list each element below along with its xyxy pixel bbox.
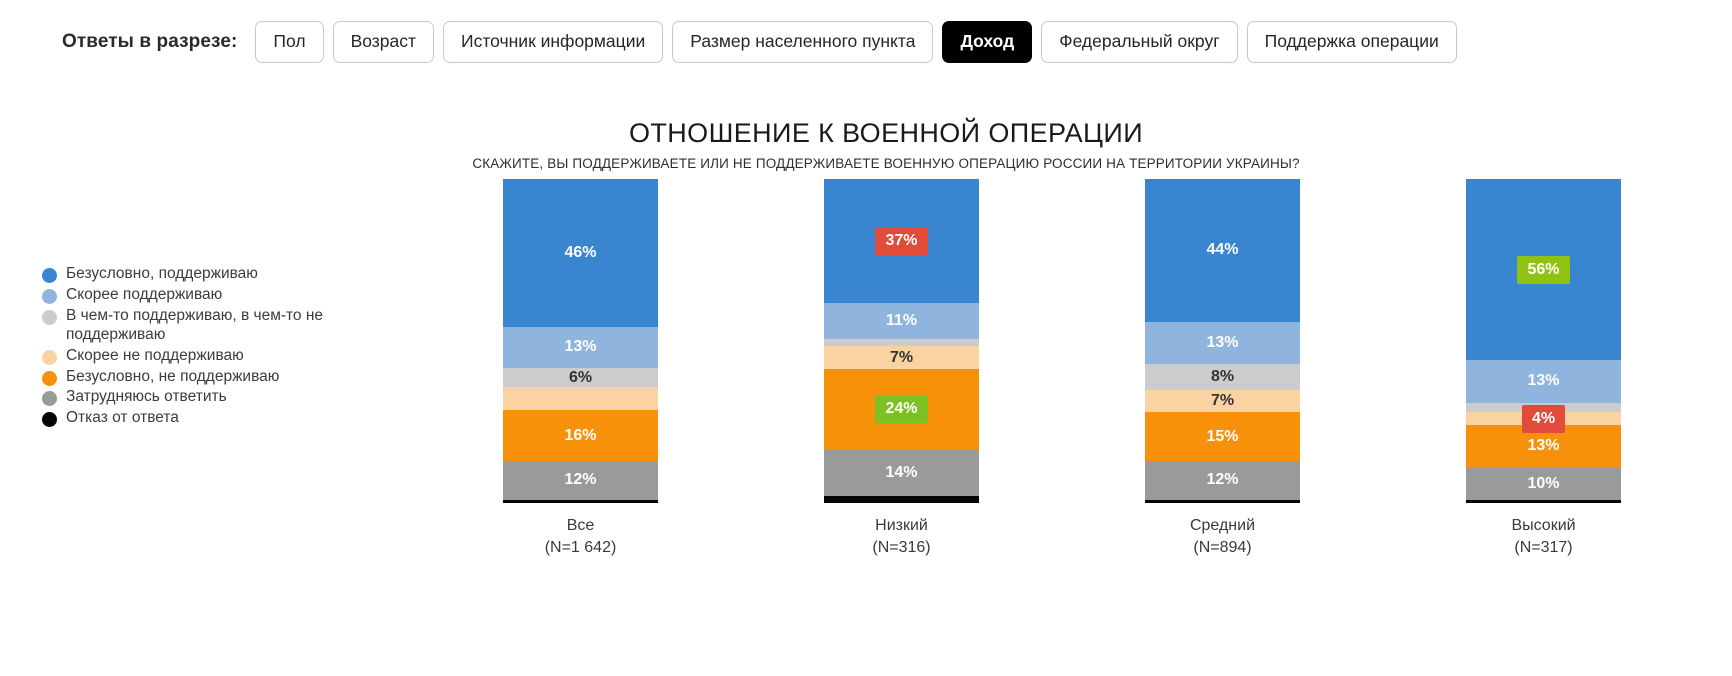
filter-toolbar: Ответы в разрезе: ПолВозрастИсточник инф… [0,0,1732,70]
legend-label: Безусловно, поддерживаю [66,265,258,284]
bar-segment-value-label: 6% [569,370,592,386]
bar-segment[interactable]: 16% [503,410,658,461]
bar-segment[interactable]: 4% [1466,412,1621,425]
bar-segment-value-label: 13% [1206,335,1238,351]
bar-segment[interactable] [1145,500,1300,503]
legend-label: Скорее не поддерживаю [66,347,244,366]
bar-segment-value-label: 12% [564,472,596,488]
legend-item[interactable]: В чем-то поддерживаю, в чем-то не поддер… [42,307,372,345]
bar-stack: 44%13%8%7%15%12% [1145,179,1300,503]
bar-segment-value-label: 14% [885,465,917,481]
bar-segment[interactable] [503,500,658,503]
bar-segment[interactable]: 7% [1145,390,1300,413]
bar-segment-value-label: 10% [1527,476,1559,492]
bar-segment[interactable]: 56% [1466,179,1621,360]
bar-segment-value-label: 46% [564,245,596,261]
bar-segment-value-label: 16% [564,428,596,444]
legend-swatch-icon [42,371,57,386]
bar-segment-value-label: 4% [1522,405,1565,433]
bar-category-label: Высокий(N=317) [1511,515,1575,558]
legend-swatch-icon [42,350,57,365]
bar-segment-value-label: 37% [875,227,927,255]
legend-swatch-icon [42,268,57,283]
bar-category-label: Все(N=1 642) [545,515,617,558]
bar-segment[interactable] [503,387,658,409]
bar-segment[interactable]: 14% [824,450,979,497]
bar-segment-value-label: 12% [1206,472,1238,488]
legend-label: Скорее поддерживаю [66,286,222,305]
legend-item[interactable]: Скорее поддерживаю [42,286,372,305]
bar-segment-value-label: 15% [1206,429,1238,445]
bar-category-name: Все [567,517,595,534]
bar-category-label: Низкий(N=316) [872,515,930,558]
bar-category-sample-size: (N=894) [1190,537,1255,559]
legend-label: Затрудняюсь ответить [66,388,227,407]
filter-button-group: ПолВозрастИсточник информацииРазмер насе… [255,21,1465,63]
legend-label: В чем-то поддерживаю, в чем-то не поддер… [66,307,372,345]
bar-category-name: Средний [1190,517,1255,534]
bar-segment[interactable]: 15% [1145,412,1300,461]
bar-category-name: Высокий [1511,517,1575,534]
bar-segment[interactable] [1466,500,1621,503]
legend-item[interactable]: Безусловно, поддерживаю [42,265,372,284]
chart-legend: Безусловно, поддерживаюСкорее поддержива… [42,265,372,430]
bar-segment-value-label: 13% [1527,373,1559,389]
bar-segment[interactable]: 13% [503,327,658,369]
bar-group: 56%13%4%13%10%Высокий(N=317) [1419,171,1669,558]
bar-category-label: Средний(N=894) [1190,515,1255,558]
filter-button-6[interactable]: Поддержка операции [1247,21,1457,63]
legend-swatch-icon [42,310,57,325]
bar-segment[interactable]: 6% [503,368,658,387]
bar-segment-value-label: 44% [1206,242,1238,258]
bar-category-sample-size: (N=317) [1511,537,1575,559]
legend-item[interactable]: Скорее не поддерживаю [42,347,372,366]
bar-segment[interactable]: 7% [824,346,979,369]
bar-segment-value-label: 24% [875,395,927,423]
legend-swatch-icon [42,412,57,427]
bar-segment-value-label: 8% [1211,369,1234,385]
bar-group: 37%11%7%24%14%Низкий(N=316) [777,171,1027,558]
bar-segment-value-label: 13% [564,339,596,355]
legend-item[interactable]: Затрудняюсь ответить [42,388,372,407]
chart-subtitle: СКАЖИТЕ, ВЫ ПОДДЕРЖИВАЕТЕ ИЛИ НЕ ПОДДЕРЖ… [0,156,1732,171]
bar-segment-value-label: 13% [1527,438,1559,454]
filter-button-1[interactable]: Возраст [333,21,434,63]
bar-segment[interactable] [824,339,979,346]
legend-label: Отказ от ответа [66,409,179,428]
bar-segment[interactable]: 10% [1466,467,1621,499]
bar-segment[interactable] [824,496,979,503]
legend-item[interactable]: Безусловно, не поддерживаю [42,368,372,387]
bar-segment[interactable]: 11% [824,303,979,340]
bar-category-name: Низкий [875,517,928,534]
bar-segment[interactable]: 13% [1466,360,1621,402]
legend-item[interactable]: Отказ от ответа [42,409,372,428]
bar-segment[interactable]: 46% [503,179,658,327]
bar-segment-value-label: 56% [1517,256,1569,284]
bar-segment-value-label: 11% [886,313,917,329]
bar-segment[interactable]: 12% [503,461,658,499]
bar-segment-value-label: 7% [1211,393,1234,409]
bar-group: 46%13%6%16%12%Все(N=1 642) [456,171,706,558]
filter-toolbar-label: Ответы в разрезе: [62,31,237,53]
filter-button-5[interactable]: Федеральный округ [1041,21,1237,63]
bar-segment[interactable]: 8% [1145,364,1300,390]
filter-button-4[interactable]: Доход [942,21,1032,63]
stacked-bar-chart: 46%13%6%16%12%Все(N=1 642)37%11%7%24%14%… [420,171,1704,641]
bar-category-sample-size: (N=1 642) [545,537,617,559]
bar-stack: 56%13%4%13%10% [1466,179,1621,503]
bar-group: 44%13%8%7%15%12%Средний(N=894) [1098,171,1348,558]
filter-button-0[interactable]: Пол [255,21,323,63]
bar-segment[interactable]: 24% [824,369,979,449]
legend-swatch-icon [42,391,57,406]
filter-button-2[interactable]: Источник информации [443,21,663,63]
bar-category-sample-size: (N=316) [872,537,930,559]
legend-swatch-icon [42,289,57,304]
bar-stack: 46%13%6%16%12% [503,179,658,503]
chart-plot-area: Безусловно, поддерживаюСкорее поддержива… [0,171,1732,641]
bar-segment[interactable]: 13% [1145,322,1300,364]
bar-segment[interactable]: 37% [824,179,979,303]
bar-stack: 37%11%7%24%14% [824,179,979,503]
legend-label: Безусловно, не поддерживаю [66,368,279,387]
bar-segment-value-label: 7% [890,350,913,366]
page-title: ОТНОШЕНИЕ К ВОЕННОЙ ОПЕРАЦИИ [0,118,1732,149]
filter-button-3[interactable]: Размер населенного пункта [672,21,933,63]
bar-segment[interactable]: 12% [1145,461,1300,500]
bar-segment[interactable]: 44% [1145,179,1300,322]
